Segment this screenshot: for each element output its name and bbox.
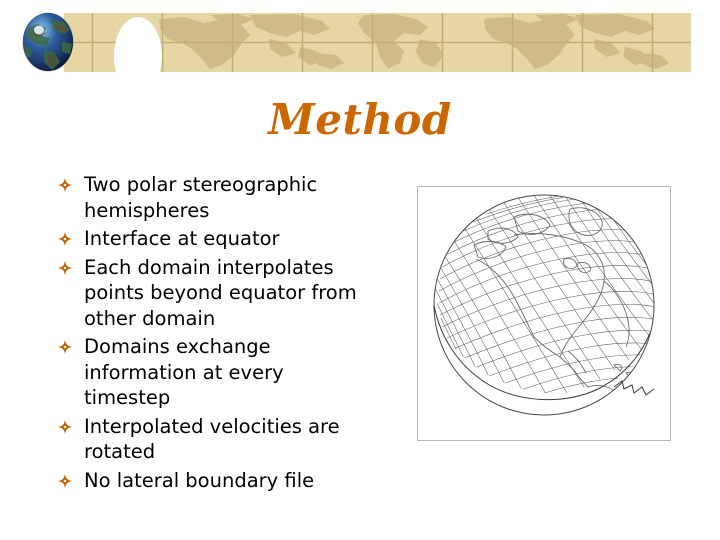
bullet-list: Two polar stereographic hemispheres Inte… — [58, 172, 368, 496]
list-item: Interface at equator — [58, 226, 368, 252]
list-item: Two polar stereographic hemispheres — [58, 172, 368, 223]
list-item-label: Interpolated velocities are rotated — [84, 414, 368, 465]
list-item-label: Each domain interpolates points beyond e… — [84, 255, 368, 332]
list-item: No lateral boundary file — [58, 468, 368, 494]
list-item: Domains exchange information at every ti… — [58, 334, 368, 411]
list-item: Each domain interpolates points beyond e… — [58, 255, 368, 332]
world-map-banner — [64, 13, 691, 72]
list-item-label: Domains exchange information at every ti… — [84, 334, 368, 411]
compass-diamond-bullet-icon — [58, 420, 72, 434]
compass-diamond-bullet-icon — [58, 178, 72, 192]
list-item-label: Interface at equator — [84, 226, 368, 252]
list-item: Interpolated velocities are rotated — [58, 414, 368, 465]
compass-diamond-bullet-icon — [58, 232, 72, 246]
polar-stereographic-grid-globe-graphic — [418, 187, 670, 440]
compass-diamond-bullet-icon — [58, 340, 72, 354]
list-item-label: No lateral boundary file — [84, 468, 368, 494]
compass-diamond-bullet-icon — [58, 261, 72, 275]
polar-stereographic-grid-globe-figure — [417, 186, 671, 441]
compass-diamond-bullet-icon — [58, 474, 72, 488]
header-banner — [0, 0, 720, 86]
earth-globe-icon — [20, 12, 76, 72]
list-item-label: Two polar stereographic hemispheres — [84, 172, 368, 223]
page-title: Method — [0, 96, 720, 144]
